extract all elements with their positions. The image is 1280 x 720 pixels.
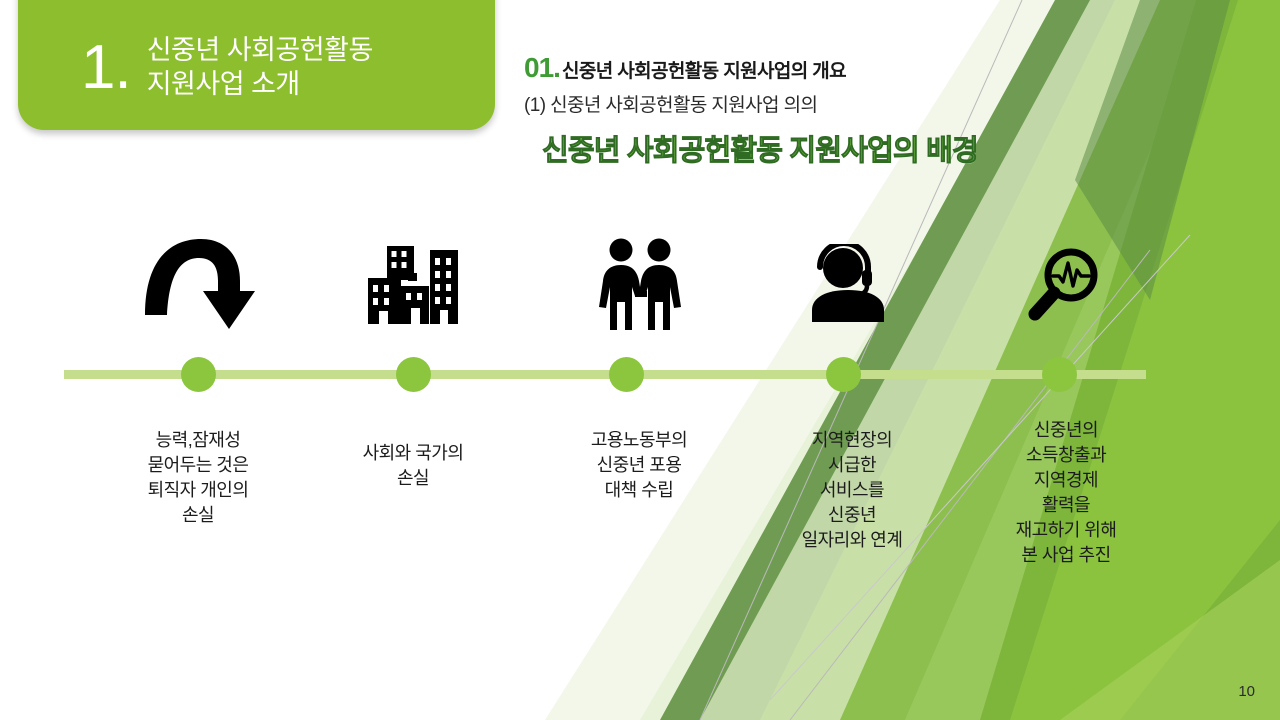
section-number: 1.: [81, 34, 131, 96]
topic-heading-row: 01. 신중년 사회공헌활동 지원사업의 개요: [524, 52, 978, 84]
timeline-label-5: 신중년의 소득창출과 지역경제 활력을 재고하기 위해 본 사업 추진: [961, 418, 1171, 568]
topic-block: 01. 신중년 사회공헌활동 지원사업의 개요 (1) 신중년 사회공헌활동 지…: [524, 52, 978, 169]
timeline-label-4: 지역현장의 시급한 서비스를 신중년 일자리와 연계: [752, 428, 952, 553]
topic-headline: 신중년 사회공헌활동 지원사업의 배경: [542, 127, 978, 169]
timeline-dot-2: [396, 357, 431, 392]
page-number: 10: [1238, 683, 1255, 700]
timeline-dot-5: [1042, 357, 1077, 392]
timeline-axis: [64, 370, 1146, 379]
city-buildings-icon: [368, 246, 460, 324]
topic-subheading: (1) 신중년 사회공헌활동 지원사업 의의: [524, 90, 978, 117]
curved-arrow-down-icon: [143, 233, 255, 333]
timeline-label-2: 사회와 국가의 손실: [313, 441, 513, 491]
timeline-dot-3: [609, 357, 644, 392]
presentation-slide: 1. 신중년 사회공헌활동 지원사업 소개 01. 신중년 사회공헌활동 지원사…: [0, 0, 1280, 720]
section-header-inner: 1. 신중년 사회공헌활동 지원사업 소개: [18, 0, 495, 130]
topic-heading: 신중년 사회공헌활동 지원사업의 개요: [562, 56, 846, 83]
section-header-box: 1. 신중년 사회공헌활동 지원사업 소개: [18, 0, 495, 130]
timeline-dot-4: [826, 357, 861, 392]
timeline-label-1: 능력,잠재성 묻어두는 것은 퇴직자 개인의 손실: [98, 428, 298, 528]
timeline-dot-1: [181, 357, 216, 392]
two-people-icon: [599, 238, 683, 330]
timeline-label-3: 고용노동부의 신중년 포용 대책 수립: [539, 428, 739, 503]
magnifier-pulse-icon: [1023, 248, 1101, 324]
topic-number: 01.: [524, 52, 560, 84]
headset-person-icon: [810, 244, 890, 322]
section-title: 신중년 사회공헌활동 지원사업 소개: [147, 29, 373, 101]
